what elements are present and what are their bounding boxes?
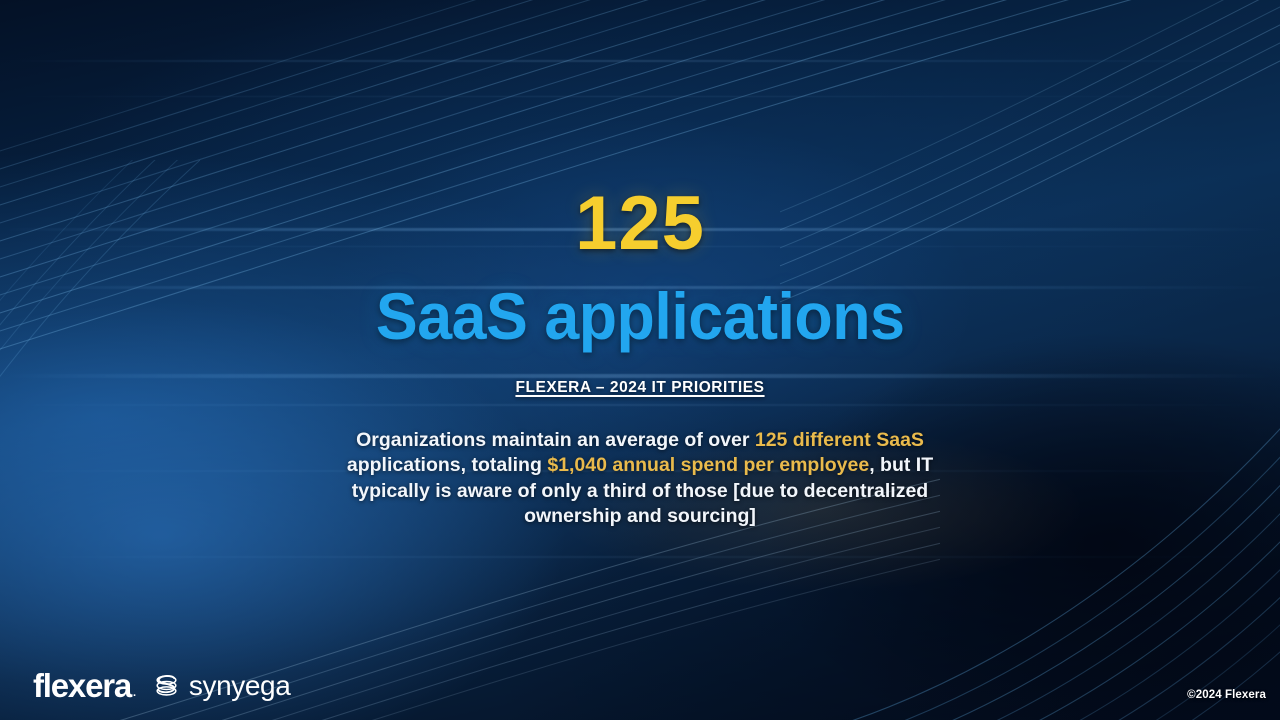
body-highlight-1: 125 different SaaS — [755, 429, 924, 451]
footer-logos: flexera . synyega — [33, 669, 290, 702]
slide-content: 125 SaaS applications FLEXERA – 2024 IT … — [0, 0, 1280, 720]
slide-canvas: 125 SaaS applications FLEXERA – 2024 IT … — [0, 0, 1280, 720]
body-highlight-2: $1,040 annual spend per employee — [547, 454, 869, 476]
synyega-logo: synyega — [151, 670, 291, 701]
stat-number: 125 — [575, 186, 705, 262]
body-copy: Organizations maintain an average of ove… — [330, 428, 950, 530]
flexera-trademark-mark: . — [133, 688, 135, 702]
body-segment-2: applications, totaling — [347, 454, 547, 476]
body-segment-1: Organizations maintain an average of ove… — [356, 429, 755, 451]
flexera-logo: flexera . — [33, 669, 135, 702]
copyright-notice: ©2024 Flexera — [1187, 689, 1266, 701]
stacked-discs-s-icon — [151, 670, 182, 701]
flexera-wordmark: flexera — [33, 669, 131, 702]
source-citation: FLEXERA – 2024 IT PRIORITIES — [515, 379, 764, 397]
stat-headline: SaaS applications — [376, 282, 905, 351]
synyega-wordmark: synyega — [189, 672, 291, 700]
